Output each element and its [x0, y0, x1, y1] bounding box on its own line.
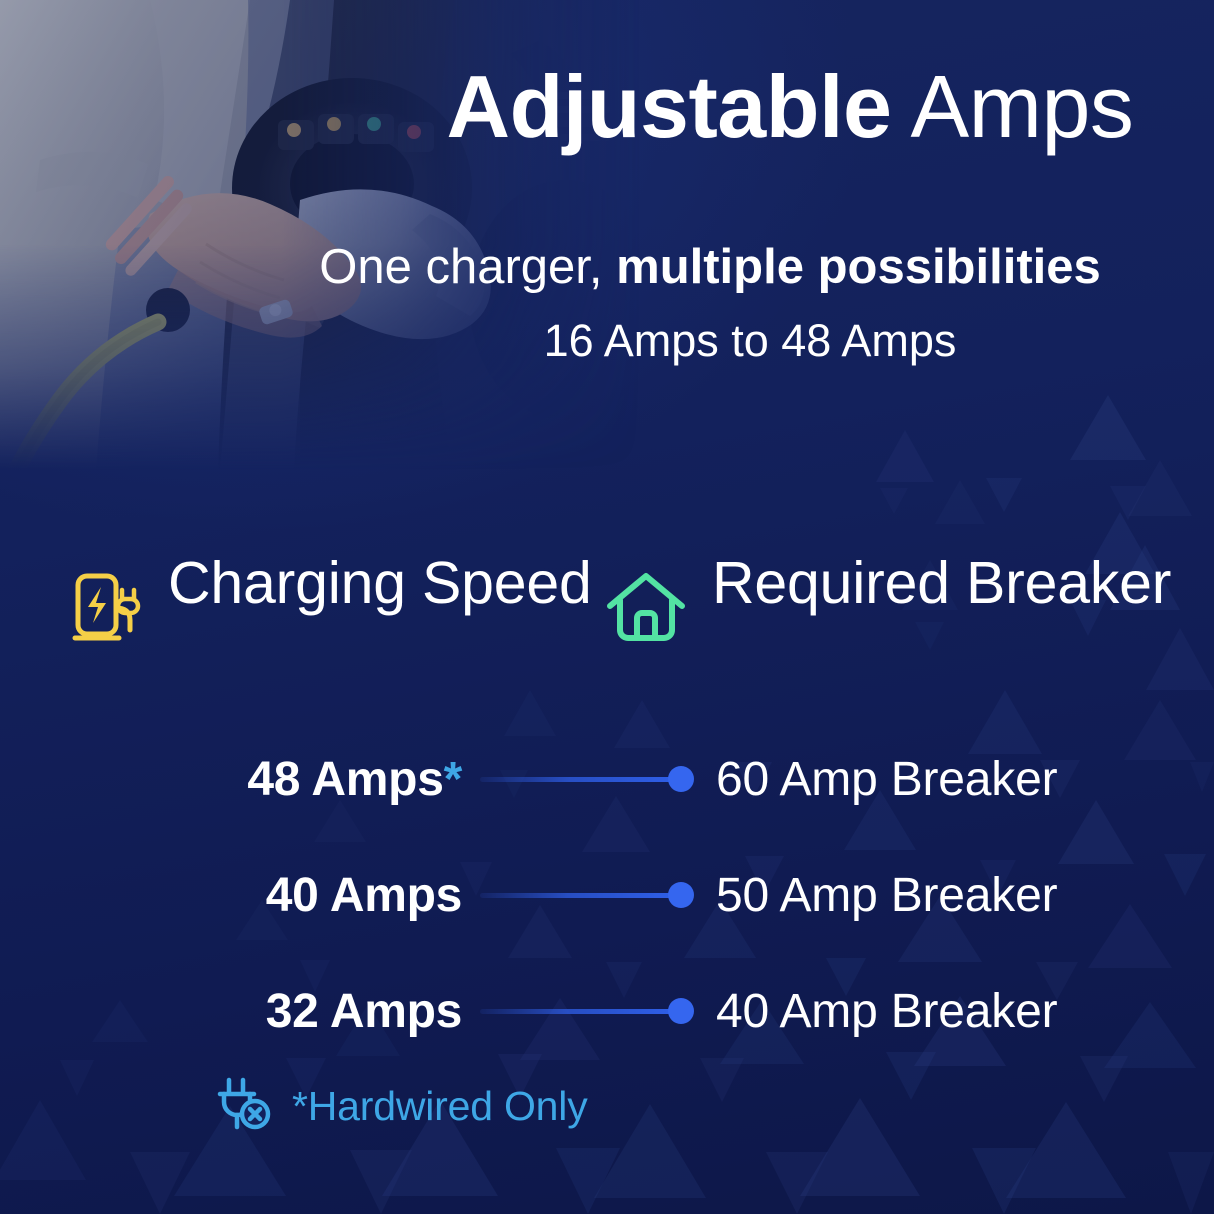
amps-label: 40 Amps [266, 869, 462, 922]
column-title-charging-speed: Charging Speed [168, 552, 592, 615]
connector-line [480, 882, 698, 908]
subtitle-bold: multiple possibilities [616, 240, 1101, 294]
amps-label: 48 Amps [247, 753, 443, 806]
column-header-charging-speed: Charging Speed [72, 552, 592, 653]
breaker-value: 60 Amp Breaker [716, 752, 1057, 807]
table-row: 40 Amps 50 Amp Breaker [0, 856, 1214, 934]
amps-value: 32 Amps [0, 984, 480, 1039]
title-bold: Adjustable [447, 57, 892, 156]
connector-line [480, 998, 698, 1024]
column-header-required-breaker: Required Breaker [604, 552, 1171, 651]
subtitle-regular: One charger, [319, 240, 616, 294]
connector-dot [668, 766, 694, 792]
amps-value: 40 Amps [0, 868, 480, 923]
footnote-asterisk: * [444, 753, 462, 806]
connector-dot [668, 998, 694, 1024]
connector-line [480, 766, 698, 792]
subtitle: One charger, multiple possibilities [250, 238, 1170, 297]
connector-dot [668, 882, 694, 908]
column-title-required-breaker: Required Breaker [712, 552, 1171, 615]
house-icon [604, 568, 688, 651]
connector-line-bar [480, 777, 676, 782]
ev-charging-station-icon [72, 568, 144, 653]
breaker-value: 50 Amp Breaker [716, 868, 1057, 923]
page-title: Adjustable Amps [410, 62, 1170, 152]
connector-line-bar [480, 1009, 676, 1014]
footnote: *Hardwired Only [210, 1072, 588, 1141]
infographic-canvas: Adjustable Amps One charger, multiple po… [0, 0, 1214, 1214]
footnote-text: *Hardwired Only [292, 1083, 588, 1130]
table-row: 48 Amps* 60 Amp Breaker [0, 740, 1214, 818]
connector-line-bar [480, 893, 676, 898]
title-regular: Amps [891, 57, 1133, 156]
breaker-value: 40 Amp Breaker [716, 984, 1057, 1039]
amps-value: 48 Amps* [0, 752, 480, 807]
amps-label: 32 Amps [266, 985, 462, 1038]
amp-range-line: 16 Amps to 48 Amps [330, 314, 1170, 368]
table-row: 32 Amps 40 Amp Breaker [0, 972, 1214, 1050]
plug-disabled-icon [210, 1072, 274, 1141]
